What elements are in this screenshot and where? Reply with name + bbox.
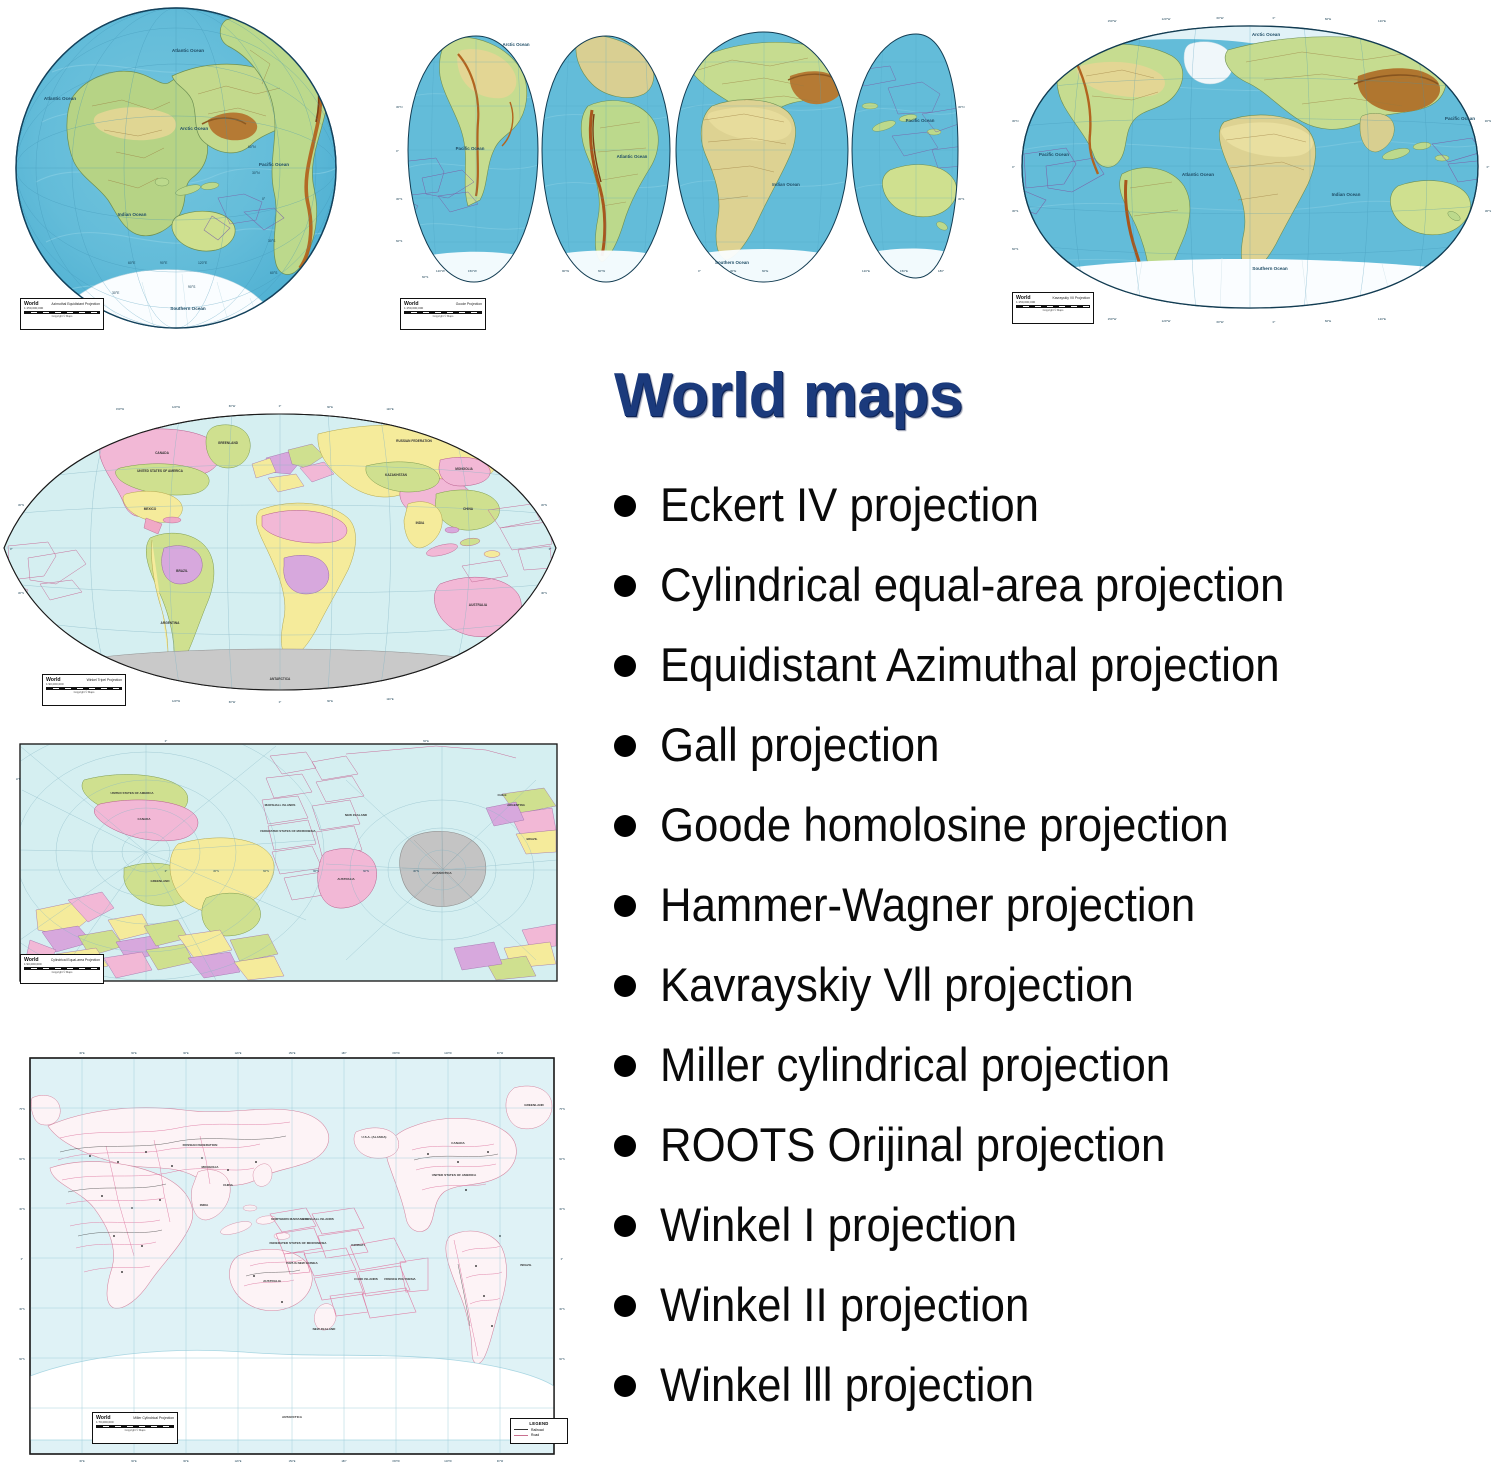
svg-text:FEDERATED STATES OF MICRONESIA: FEDERATED STATES OF MICRONESIA: [260, 829, 316, 833]
map-legend-box: World Winkel Tripel Projection 1:90,000,…: [42, 674, 126, 706]
svg-text:120°W: 120°W: [172, 699, 181, 703]
world-maps-page: Atlantic Ocean Atlantic Ocean Arctic Oce…: [0, 0, 1500, 1469]
svg-text:Arctic Ocean: Arctic Ocean: [502, 42, 529, 47]
svg-text:60°N: 60°N: [559, 1158, 565, 1161]
svg-text:30°E: 30°E: [79, 1460, 85, 1463]
map-legend-box: World Kavrayskiy VII Projection 1:150,00…: [1012, 292, 1094, 324]
svg-text:30°N: 30°N: [541, 503, 547, 507]
list-item[interactable]: Kavrayskiy Vll projection: [614, 957, 1500, 1037]
road-line-swatch: [514, 1435, 528, 1436]
svg-text:60°E: 60°E: [423, 740, 429, 743]
svg-text:30°N: 30°N: [18, 503, 24, 507]
legend-scale: 1:150,000,000: [1016, 301, 1090, 304]
svg-text:30°S: 30°S: [18, 591, 24, 595]
list-item[interactable]: ROOTS Orijinal projection: [614, 1117, 1500, 1197]
svg-text:ANTARCTICA: ANTARCTICA: [270, 677, 291, 681]
svg-text:AUSTRALIA: AUSTRALIA: [263, 1279, 282, 1283]
svg-text:0°: 0°: [1487, 165, 1490, 169]
svg-text:60°E: 60°E: [327, 699, 333, 703]
svg-text:CANADA: CANADA: [155, 451, 170, 455]
svg-text:INDIA: INDIA: [416, 521, 425, 525]
svg-text:30°N: 30°N: [958, 105, 964, 109]
svg-text:30°N: 30°N: [1485, 119, 1491, 123]
svg-text:0°: 0°: [10, 547, 13, 551]
svg-text:PAPUA NEW GUINEA: PAPUA NEW GUINEA: [286, 1261, 318, 1265]
svg-text:KIRIBATI: KIRIBATI: [351, 1243, 364, 1247]
svg-text:90°E: 90°E: [160, 261, 168, 265]
scale-bar: [1016, 305, 1090, 308]
map-azimuthal-globe[interactable]: Atlantic Ocean Atlantic Ocean Arctic Oce…: [12, 2, 342, 342]
svg-text:60°S: 60°S: [559, 1358, 565, 1361]
svg-text:120°E: 120°E: [862, 269, 870, 273]
legend-copyright: Copyright © Maps: [24, 971, 100, 974]
legend-scale: 1:150,000,000: [404, 307, 482, 310]
svg-text:120°W: 120°W: [444, 1052, 452, 1055]
svg-text:RUSSIAN FEDERATION: RUSSIAN FEDERATION: [183, 1143, 218, 1147]
svg-text:NEW ZEALAND: NEW ZEALAND: [313, 1327, 337, 1331]
svg-text:0°: 0°: [279, 404, 282, 408]
list-item-label: Equidistant Azimuthal projection: [660, 637, 1280, 692]
svg-text:0°: 0°: [1273, 320, 1276, 324]
svg-text:Indian Ocean: Indian Ocean: [772, 182, 800, 187]
svg-text:60°E: 60°E: [131, 1052, 137, 1055]
list-item-label: Goode homolosine projection: [660, 797, 1229, 852]
list-item-label: Gall projection: [660, 717, 939, 772]
svg-text:120°W: 120°W: [1162, 319, 1171, 323]
svg-text:60°S: 60°S: [19, 1358, 25, 1361]
svg-text:90°E: 90°E: [183, 1460, 189, 1463]
legend-item-label: Railroad: [531, 1428, 544, 1432]
legend-copyright: Copyright © Maps: [96, 1429, 174, 1432]
bullet-dot-icon: [614, 1055, 636, 1077]
svg-text:90°W: 90°W: [497, 1052, 504, 1055]
list-item[interactable]: Hammer-Wagner projection: [614, 877, 1500, 957]
legend-item-railroad: Railroad: [514, 1428, 564, 1432]
svg-text:0°: 0°: [165, 869, 167, 873]
svg-text:120°E: 120°E: [235, 1460, 242, 1463]
svg-text:150°E: 150°E: [900, 269, 908, 273]
bullet-dot-icon: [614, 1375, 636, 1397]
map-legend-box: World Goode Projection 1:150,000,000 Cop…: [400, 298, 486, 330]
svg-text:Pacific Ocean: Pacific Ocean: [456, 146, 485, 151]
svg-text:GREENLAND: GREENLAND: [218, 441, 239, 445]
scale-bar: [404, 311, 482, 314]
list-item-label: Winkel lll projection: [660, 1357, 1034, 1412]
bullet-dot-icon: [614, 575, 636, 597]
svg-text:30°S: 30°S: [19, 1308, 25, 1311]
svg-text:CANADA: CANADA: [138, 817, 152, 821]
svg-text:60°S: 60°S: [270, 271, 278, 275]
list-item[interactable]: Winkel I projection: [614, 1197, 1500, 1277]
svg-text:75°N: 75°N: [559, 1108, 565, 1111]
svg-text:60°W: 60°W: [1216, 16, 1223, 20]
svg-text:60°S: 60°S: [396, 239, 402, 243]
svg-text:0°: 0°: [396, 149, 399, 153]
svg-text:ARGENTINA: ARGENTINA: [161, 621, 181, 625]
svg-text:150°W: 150°W: [116, 407, 125, 411]
bullet-dot-icon: [614, 655, 636, 677]
svg-text:120°E: 120°E: [1378, 19, 1386, 23]
svg-text:60°E: 60°E: [1325, 17, 1331, 21]
svg-text:NORTHERN MARIANA IS.: NORTHERN MARIANA IS.: [271, 1217, 309, 1221]
svg-text:GREENLAND: GREENLAND: [150, 879, 170, 883]
map-oval-physical[interactable]: Arctic Ocean Pacific Ocean Atlantic Ocea…: [1002, 4, 1498, 330]
svg-text:150°E: 150°E: [289, 1052, 296, 1055]
svg-text:30°S: 30°S: [396, 197, 402, 201]
legend-scale: 1:150,000,000: [24, 307, 100, 310]
svg-text:150°W: 150°W: [1108, 19, 1117, 23]
list-item-label: Hammer-Wagner projection: [660, 877, 1195, 932]
legend-copyright: Copyright © Maps: [24, 315, 100, 318]
svg-text:BRAZIL: BRAZIL: [527, 837, 538, 841]
svg-text:FRENCH POLYNESIA: FRENCH POLYNESIA: [384, 1277, 416, 1281]
map-legend-box: World Azimuthal Equidistant Projection 1…: [20, 298, 104, 330]
legend-copyright: Copyright © Maps: [46, 691, 122, 694]
svg-text:120°W: 120°W: [436, 269, 445, 273]
svg-text:CHINA: CHINA: [223, 1183, 234, 1187]
svg-text:Arctic Ocean: Arctic Ocean: [180, 126, 209, 131]
svg-text:150°E: 150°E: [289, 1460, 296, 1463]
svg-text:Southern Ocean: Southern Ocean: [170, 306, 206, 311]
svg-text:UNITED STATES OF AMERICA: UNITED STATES OF AMERICA: [110, 791, 154, 795]
svg-text:0°: 0°: [21, 1258, 23, 1261]
svg-text:30°S: 30°S: [958, 197, 964, 201]
svg-text:ANTARCTICA: ANTARCTICA: [282, 1415, 303, 1419]
svg-text:60°E: 60°E: [1325, 319, 1331, 323]
list-item[interactable]: Gall projection: [614, 717, 1500, 797]
svg-text:0°: 0°: [561, 1258, 563, 1261]
svg-text:60°N: 60°N: [16, 777, 21, 781]
svg-text:INDIA: INDIA: [200, 1203, 209, 1207]
projection-list-panel: World maps Eckert IV projection Cylindri…: [600, 355, 1500, 1465]
list-item[interactable]: Eckert IV projection: [614, 477, 1500, 557]
svg-text:30°S: 30°S: [559, 1308, 565, 1311]
svg-text:0°: 0°: [549, 547, 552, 551]
svg-text:UNITED STATES OF AMERICA: UNITED STATES OF AMERICA: [137, 469, 184, 473]
list-item[interactable]: Winkel II projection: [614, 1277, 1500, 1357]
svg-text:60°E: 60°E: [327, 405, 333, 409]
svg-text:30°N: 30°N: [396, 105, 402, 109]
svg-text:150°W: 150°W: [1108, 317, 1117, 321]
svg-text:30°E: 30°E: [730, 269, 736, 273]
svg-text:AUSTRALIA: AUSTRALIA: [337, 877, 355, 881]
map-legend-box: World Miller Cylindrical Projection 1:70…: [92, 1412, 178, 1444]
map-legend-box: World Cylindrical Equal-area Projection …: [20, 954, 104, 984]
map-oval-political[interactable]: UNITED STATES OF AMERICA CANADA BRAZIL R…: [0, 398, 560, 718]
svg-text:60°N: 60°N: [248, 145, 256, 149]
svg-text:FEDERATED STATES OF MICRONESIA: FEDERATED STATES OF MICRONESIA: [269, 1241, 327, 1245]
scale-bar: [24, 311, 100, 314]
svg-text:0°: 0°: [165, 740, 167, 743]
scale-bar: [96, 1425, 174, 1428]
svg-text:Indian Ocean: Indian Ocean: [118, 212, 147, 217]
svg-text:120°E: 120°E: [235, 1052, 242, 1055]
map-pacific-rect[interactable]: RUSSIAN FEDERATION CHINA MONGOLIA INDIA …: [14, 1040, 570, 1468]
svg-text:90°S: 90°S: [188, 285, 196, 289]
list-item[interactable]: Goode homolosine projection: [614, 797, 1500, 877]
svg-text:60°E: 60°E: [131, 1460, 137, 1463]
svg-text:120°E: 120°E: [386, 697, 394, 701]
svg-text:30°N: 30°N: [19, 1208, 25, 1211]
svg-text:60°N: 60°N: [363, 869, 369, 873]
list-item[interactable]: Miller cylindrical projection: [614, 1037, 1500, 1117]
svg-text:Southern Ocean: Southern Ocean: [715, 260, 749, 265]
list-item-label: Winkel II projection: [660, 1277, 1029, 1332]
svg-text:180°: 180°: [341, 1052, 346, 1055]
svg-text:30°E: 30°E: [79, 1052, 85, 1055]
map-transverse-rect[interactable]: UNITED STATES OF AMERICA GREENLAND ANTAR…: [16, 740, 561, 985]
svg-text:ARGENTINA: ARGENTINA: [507, 803, 526, 807]
map-goode-homolosine[interactable]: Pacific Ocean Atlantic Ocean Indian Ocea…: [392, 10, 967, 330]
svg-text:MONGOLIA: MONGOLIA: [201, 1165, 219, 1169]
svg-text:60°W: 60°W: [229, 700, 236, 704]
svg-text:0°: 0°: [698, 269, 701, 273]
legend-scale: 1:90,000,000: [46, 683, 122, 686]
svg-text:60°S: 60°S: [422, 275, 428, 279]
svg-text:150°W: 150°W: [392, 1460, 400, 1463]
svg-text:180°: 180°: [938, 269, 944, 273]
svg-text:60°S: 60°S: [1012, 247, 1018, 251]
svg-text:CANADA: CANADA: [451, 1141, 465, 1145]
legend-scale: 1:90,000,000: [24, 963, 100, 966]
svg-text:60°E: 60°E: [128, 261, 136, 265]
legend-copyright: Copyright © Maps: [404, 315, 482, 318]
bullet-dot-icon: [614, 975, 636, 997]
svg-text:Pacific Ocean: Pacific Ocean: [906, 118, 935, 123]
svg-text:120°E: 120°E: [386, 407, 394, 411]
svg-text:Atlantic Ocean: Atlantic Ocean: [172, 48, 204, 53]
svg-text:MONGOLIA: MONGOLIA: [455, 467, 473, 471]
map-feature-legend: LEGEND Railroad Road: [510, 1418, 568, 1444]
svg-text:90°S: 90°S: [313, 869, 319, 873]
legend-item-road: Road: [514, 1433, 564, 1437]
bullet-dot-icon: [614, 735, 636, 757]
scale-bar: [46, 687, 122, 690]
svg-text:30°S: 30°S: [1485, 209, 1491, 213]
svg-text:75°N: 75°N: [19, 1108, 25, 1111]
svg-text:0°: 0°: [1012, 165, 1015, 169]
list-item[interactable]: Cylindrical equal-area projection: [614, 557, 1500, 637]
bullet-dot-icon: [614, 895, 636, 917]
svg-text:KAZAKHSTAN: KAZAKHSTAN: [385, 473, 408, 477]
list-item-label: Winkel I projection: [660, 1197, 1017, 1252]
svg-text:MEXICO: MEXICO: [144, 507, 157, 511]
svg-text:60°W: 60°W: [598, 269, 605, 273]
svg-text:30°N: 30°N: [252, 171, 260, 175]
bullet-dot-icon: [614, 1135, 636, 1157]
svg-text:30°S: 30°S: [268, 239, 276, 243]
bullet-dot-icon: [614, 1295, 636, 1317]
svg-text:0°: 0°: [1273, 16, 1276, 20]
svg-text:0°: 0°: [279, 700, 282, 704]
svg-text:90°E: 90°E: [183, 1052, 189, 1055]
projection-list: Eckert IV projection Cylindrical equal-a…: [614, 477, 1500, 1437]
svg-text:30°S: 30°S: [541, 591, 547, 595]
bullet-dot-icon: [614, 1215, 636, 1237]
svg-text:120°W: 120°W: [172, 405, 181, 409]
legend-item-label: Road: [531, 1433, 539, 1437]
svg-text:120°W: 120°W: [444, 1460, 452, 1463]
svg-text:GREENLAND: GREENLAND: [524, 1103, 544, 1107]
svg-text:Atlantic Ocean: Atlantic Ocean: [1182, 172, 1214, 177]
svg-text:60°W: 60°W: [1216, 320, 1223, 324]
svg-text:UNITED STATES OF AMERICA: UNITED STATES OF AMERICA: [432, 1173, 477, 1177]
svg-text:Pacific Ocean: Pacific Ocean: [259, 162, 289, 167]
svg-text:120°E: 120°E: [198, 261, 208, 265]
svg-text:Pacific Ocean: Pacific Ocean: [1445, 116, 1475, 121]
svg-text:NEW ZEALAND: NEW ZEALAND: [345, 813, 368, 817]
svg-text:60°S: 60°S: [263, 869, 269, 873]
svg-text:COOK ISLANDS: COOK ISLANDS: [354, 1277, 378, 1281]
list-item-label: ROOTS Orijinal projection: [660, 1117, 1165, 1172]
svg-text:BRAZIL: BRAZIL: [176, 569, 188, 573]
svg-text:60°E: 60°E: [762, 269, 768, 273]
svg-text:30°S: 30°S: [213, 869, 219, 873]
svg-text:30°N: 30°N: [559, 1208, 565, 1211]
svg-text:Arctic Ocean: Arctic Ocean: [1252, 32, 1281, 37]
svg-text:90°W: 90°W: [497, 1460, 504, 1463]
svg-text:30°N: 30°N: [1012, 119, 1018, 123]
svg-text:MARSHALL ISLANDS: MARSHALL ISLANDS: [265, 803, 296, 807]
svg-text:Indian Ocean: Indian Ocean: [1332, 192, 1361, 197]
svg-text:ANTARCTICA: ANTARCTICA: [432, 871, 452, 875]
feature-legend-title: LEGEND: [514, 1421, 564, 1426]
svg-text:Atlantic Ocean: Atlantic Ocean: [44, 96, 76, 101]
svg-text:60°N: 60°N: [19, 1158, 25, 1161]
list-item-label: Kavrayskiy Vll projection: [660, 957, 1134, 1012]
svg-text:150°W: 150°W: [468, 269, 477, 273]
svg-text:150°W: 150°W: [392, 1052, 400, 1055]
svg-text:30°S: 30°S: [1012, 209, 1018, 213]
bullet-dot-icon: [614, 815, 636, 837]
svg-text:Pacific Ocean: Pacific Ocean: [1039, 152, 1069, 157]
bullet-dot-icon: [614, 495, 636, 517]
legend-copyright: Copyright © Maps: [1016, 309, 1090, 312]
list-item-label: Eckert IV projection: [660, 477, 1039, 532]
svg-text:Southern Ocean: Southern Ocean: [1252, 266, 1288, 271]
svg-text:CHINA: CHINA: [463, 507, 474, 511]
svg-text:AUSTRALIA: AUSTRALIA: [469, 603, 488, 607]
svg-text:30°N: 30°N: [413, 869, 419, 873]
scale-bar: [24, 967, 100, 970]
svg-text:180°: 180°: [341, 1460, 346, 1463]
svg-text:60°W: 60°W: [229, 404, 236, 408]
legend-scale: 1:70,000,000: [96, 1421, 174, 1424]
svg-text:120°E: 120°E: [1378, 317, 1386, 321]
svg-text:CHILE: CHILE: [498, 793, 507, 797]
svg-text:30°E: 30°E: [112, 291, 120, 295]
svg-text:BRAZIL: BRAZIL: [520, 1263, 531, 1267]
railroad-line-swatch: [514, 1429, 528, 1430]
svg-text:120°W: 120°W: [1162, 17, 1171, 21]
svg-text:RUSSIAN FEDERATION: RUSSIAN FEDERATION: [396, 439, 432, 443]
svg-text:90°W: 90°W: [562, 269, 569, 273]
list-item[interactable]: Winkel lll projection: [614, 1357, 1500, 1437]
list-item-label: Cylindrical equal-area projection: [660, 557, 1284, 612]
page-title: World maps: [614, 360, 963, 431]
list-item-label: Miller cylindrical projection: [660, 1037, 1170, 1092]
list-item[interactable]: Equidistant Azimuthal projection: [614, 637, 1500, 717]
svg-text:U.S.A. (ALASKA): U.S.A. (ALASKA): [362, 1135, 387, 1139]
svg-text:Atlantic Ocean: Atlantic Ocean: [617, 154, 648, 159]
